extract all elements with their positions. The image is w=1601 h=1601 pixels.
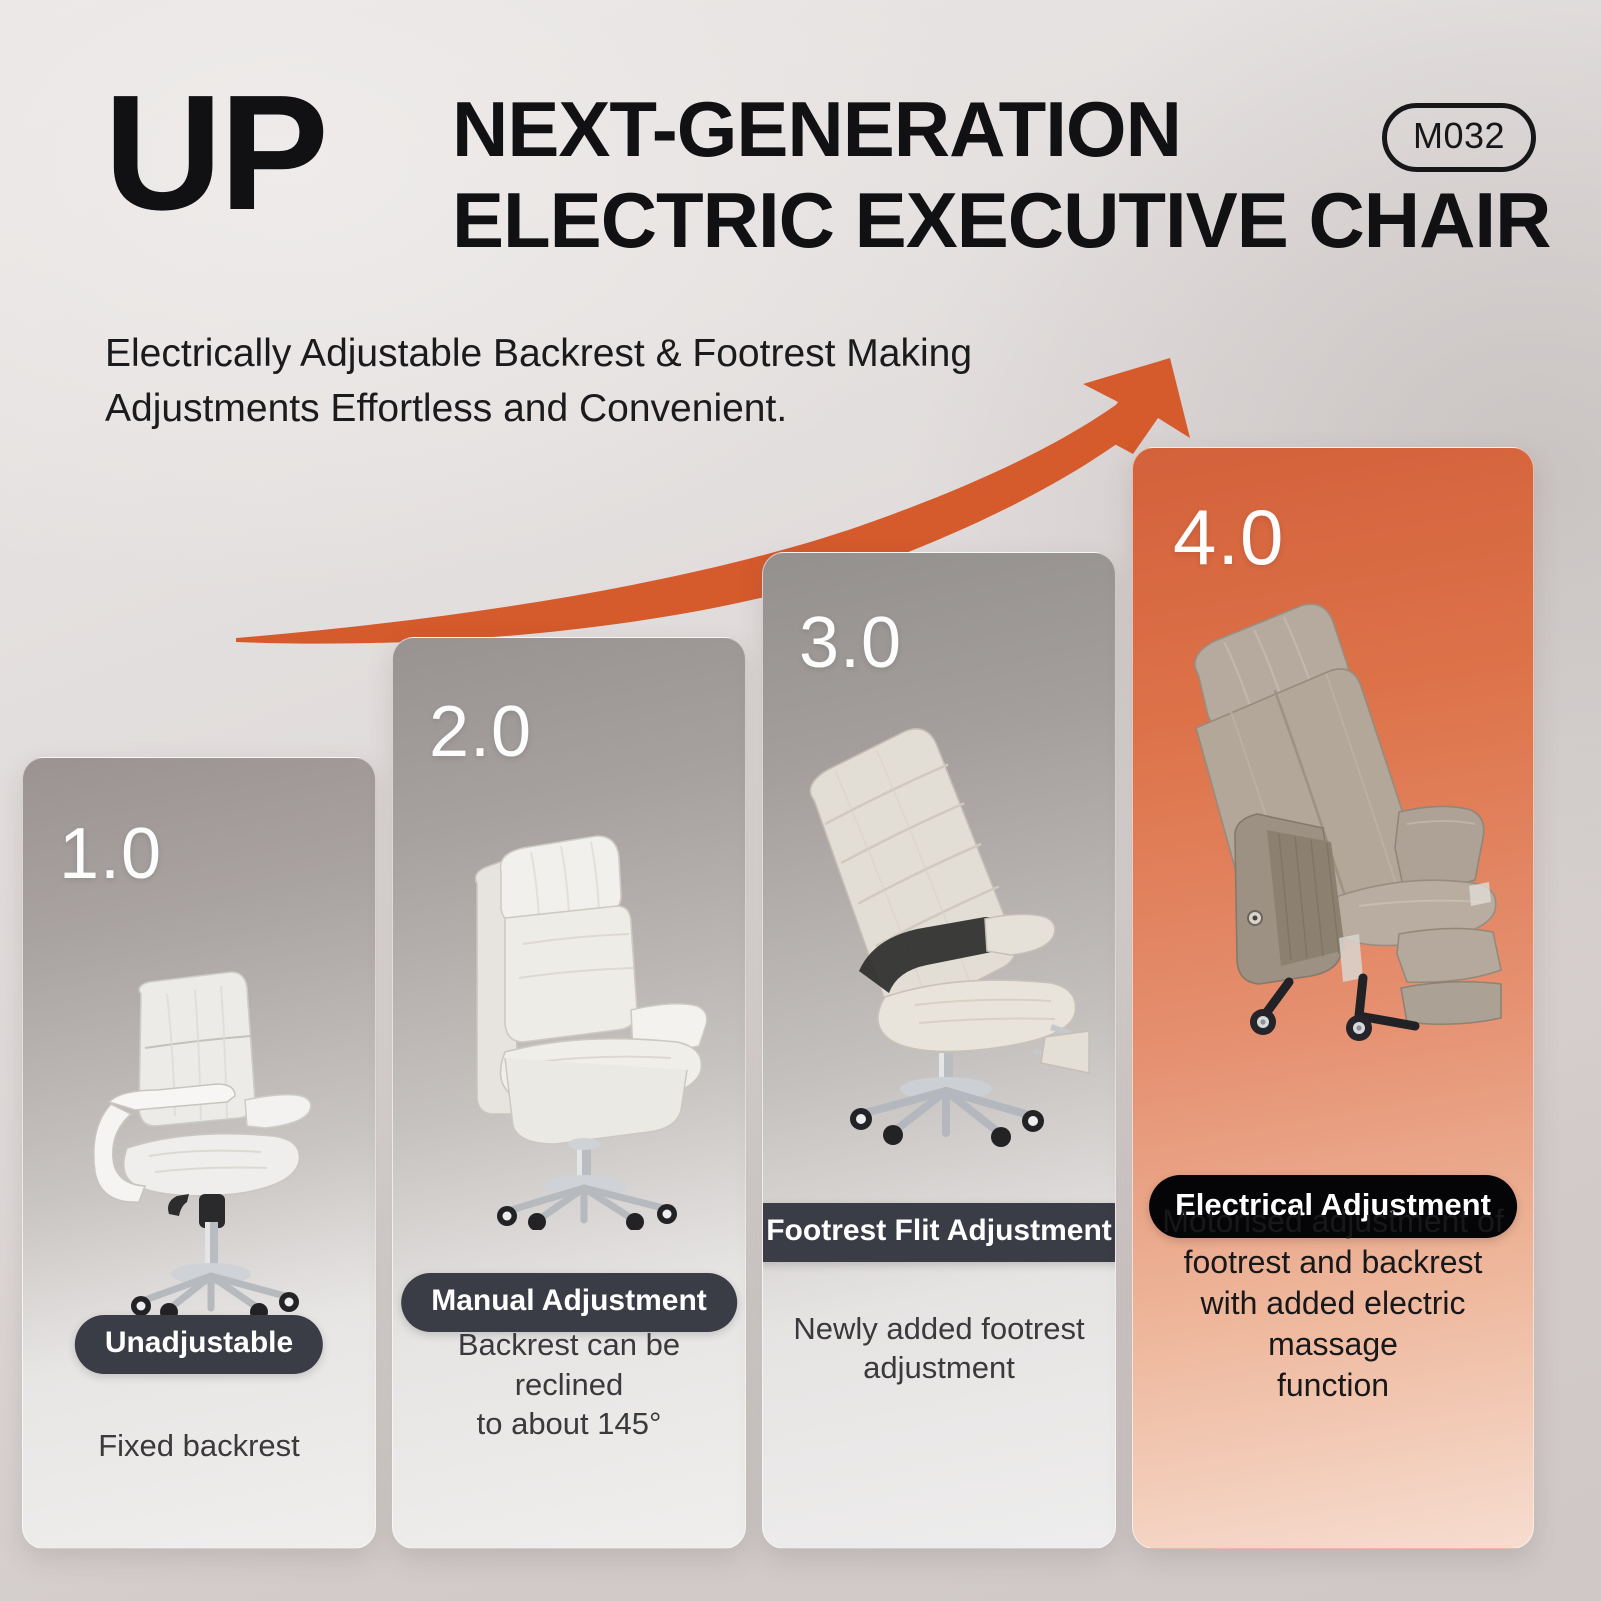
page-title-line-2: ELECTRIC EXECUTIVE CHAIR	[452, 179, 1512, 262]
version-label: 3.0	[799, 607, 902, 679]
desc-line-1: Newly added footrest	[779, 1309, 1099, 1349]
page-title-line-1: NEXT-GENERATION	[452, 88, 1512, 171]
desc-line-1: Backrest can be reclined	[409, 1325, 729, 1404]
version-card-1[interactable]: 1.0	[22, 757, 376, 1549]
feature-badge-1: Unadjustable	[75, 1315, 323, 1374]
desc-line-2: adjustment	[779, 1348, 1099, 1388]
feature-description-4: Motorised adjustment of footrest and bac…	[1149, 1201, 1517, 1406]
page-title: NEXT-GENERATION ELECTRIC EXECUTIVE CHAIR	[452, 88, 1512, 261]
model-number-badge: M032	[1382, 103, 1536, 172]
chair-image-3	[763, 721, 1115, 1161]
version-card-4[interactable]: 4.0	[1132, 447, 1534, 1549]
chair-image-4	[1133, 598, 1533, 1078]
desc-line-2: to about 145°	[409, 1404, 729, 1444]
version-label: 2.0	[429, 696, 532, 768]
version-card-3[interactable]: 3.0	[762, 552, 1116, 1549]
desc-line-3: with added electric massage	[1149, 1283, 1517, 1365]
version-label: 4.0	[1173, 498, 1284, 576]
feature-badge-2: Manual Adjustment	[401, 1273, 737, 1332]
header: UP NEXT-GENERATION ELECTRIC EXECUTIVE CH…	[0, 0, 1601, 300]
chair-image-2	[393, 814, 745, 1230]
chair-image-1	[23, 950, 375, 1322]
brand-logo: UP	[104, 78, 326, 229]
desc-line-2: footrest and backrest	[1149, 1242, 1517, 1283]
version-label: 1.0	[59, 818, 162, 890]
infographic-root: UP NEXT-GENERATION ELECTRIC EXECUTIVE CH…	[0, 0, 1601, 1601]
desc-line-1: Motorised adjustment of	[1149, 1201, 1517, 1242]
desc-line-4: function	[1149, 1365, 1517, 1406]
feature-description-3: Newly added footrest adjustment	[779, 1309, 1099, 1388]
version-card-2[interactable]: 2.0	[392, 637, 746, 1549]
desc-line-1: Fixed backrest	[39, 1426, 359, 1466]
feature-badge-3: Footrest Flit Adjustment	[762, 1203, 1116, 1262]
feature-description-2: Backrest can be reclined to about 145°	[409, 1325, 729, 1444]
feature-description-1: Fixed backrest	[39, 1426, 359, 1466]
